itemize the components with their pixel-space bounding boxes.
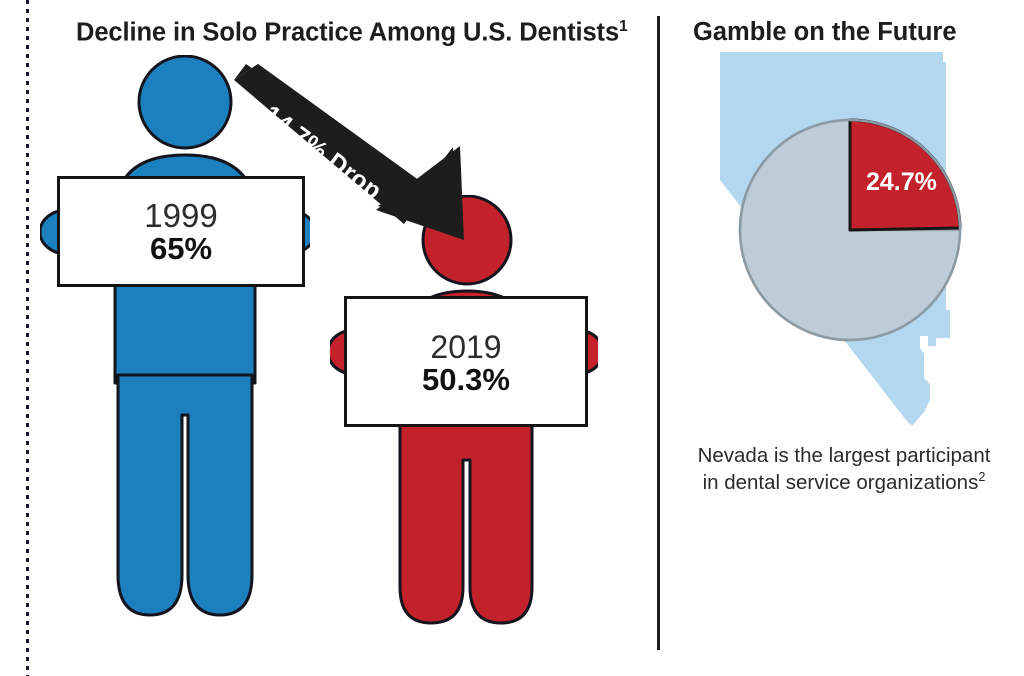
nevada-caption-line-1: Nevada is the largest participant [698,444,991,467]
blue-figure-head [139,56,231,148]
dotted-left-rule [26,0,29,676]
left-panel-title-footnote: 1 [619,18,628,35]
blue-figure-legs [118,375,252,615]
left-panel-title: Decline in Solo Practice Among U.S. Dent… [76,18,628,48]
sign-2019-percent: 50.3% [422,364,510,397]
nevada-caption-footnote: 2 [978,469,985,484]
red-figure-legs [400,425,532,623]
sign-2019: 2019 50.3% [344,296,588,427]
pie-slice-label: 24.7% [866,168,937,197]
nevada-caption-line-2: in dental service organizations [703,471,979,494]
drop-arrow-svg [228,64,492,250]
nevada-map-with-pie [700,48,1000,433]
sign-1999-year: 1999 [144,199,217,233]
sign-1999-percent: 65% [150,233,212,266]
nevada-map-svg [700,48,1000,433]
right-panel-title: Gamble on the Future [693,18,957,47]
nevada-caption: Nevada is the largest participant in den… [684,443,1004,496]
sign-2019-year: 2019 [430,331,501,364]
infographic-canvas: Decline in Solo Practice Among U.S. Dent… [0,0,1024,676]
drop-arrow [228,64,492,250]
left-panel-title-text: Decline in Solo Practice Among U.S. Dent… [76,19,619,47]
panel-divider [657,16,660,650]
